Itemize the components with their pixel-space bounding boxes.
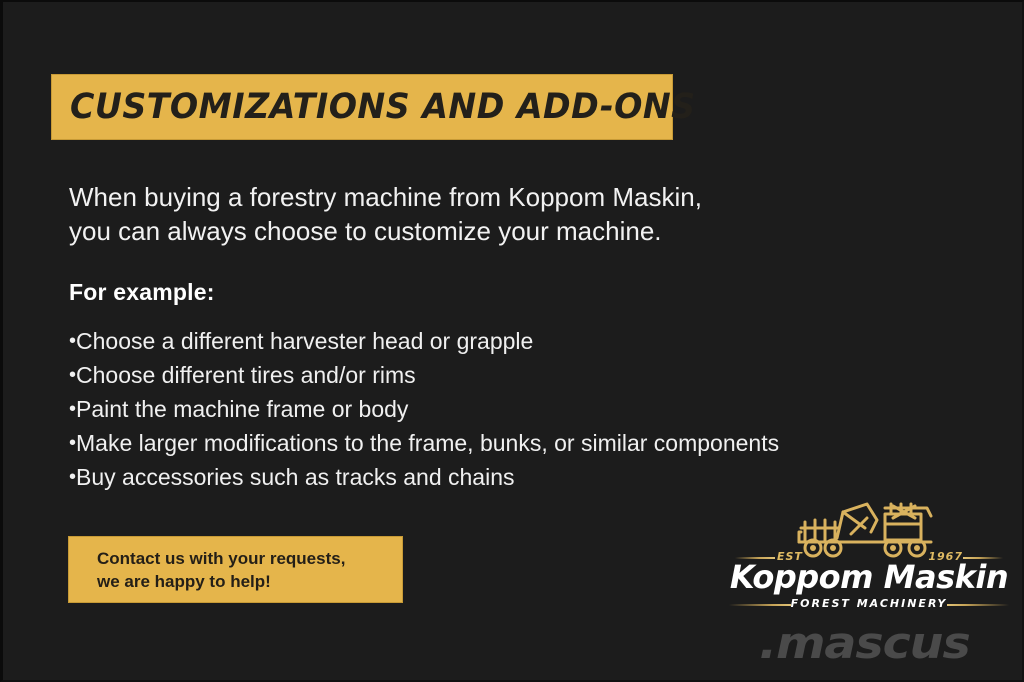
intro-line-1: When buying a forestry machine from Kopp… — [69, 180, 869, 214]
logo-wordmark: Koppom Maskin — [721, 558, 1017, 596]
list-item-label: Buy accessories such as tracks and chain… — [76, 460, 514, 494]
page-title: CUSTOMIZATIONS AND ADD-ONS — [70, 87, 696, 127]
list-item: •Choose different tires and/or rims — [69, 358, 889, 392]
title-banner: CUSTOMIZATIONS AND ADD-ONS — [51, 74, 673, 140]
bullet-marker-icon: • — [69, 358, 76, 392]
contact-line-2: we are happy to help! — [97, 570, 402, 593]
list-item: •Make larger modifications to the frame,… — [69, 426, 889, 460]
list-item-label: Paint the machine frame or body — [76, 392, 408, 426]
list-item-label: Make larger modifications to the frame, … — [76, 426, 779, 460]
list-item-label: Choose different tires and/or rims — [76, 358, 416, 392]
bullet-marker-icon: • — [69, 324, 76, 358]
logo-subrule-right — [947, 604, 1009, 606]
logo-subtitle-row: FOREST MACHINERY — [729, 597, 1009, 611]
advertisement-slide: CUSTOMIZATIONS AND ADD-ONS When buying a… — [0, 0, 1024, 682]
koppom-maskin-logo: EST 1967 Koppom Maskin FOREST MACHINERY — [721, 498, 1017, 612]
intro-paragraph: When buying a forestry machine from Kopp… — [69, 180, 869, 248]
bullet-marker-icon: • — [69, 460, 76, 494]
list-item: •Paint the machine frame or body — [69, 392, 889, 426]
contact-cta-box[interactable]: Contact us with your requests, we are ha… — [68, 536, 403, 603]
intro-line-2: you can always choose to customize your … — [69, 214, 869, 248]
list-item-label: Choose a different harvester head or gra… — [76, 324, 533, 358]
list-item: •Choose a different harvester head or gr… — [69, 324, 889, 358]
bullet-marker-icon: • — [69, 426, 76, 460]
bullet-marker-icon: • — [69, 392, 76, 426]
for-example-label: For example: — [69, 279, 215, 306]
contact-line-1: Contact us with your requests, — [97, 547, 402, 570]
mascus-watermark: .mascus — [759, 618, 970, 669]
customization-options-list: •Choose a different harvester head or gr… — [69, 324, 889, 494]
list-item: •Buy accessories such as tracks and chai… — [69, 460, 889, 494]
